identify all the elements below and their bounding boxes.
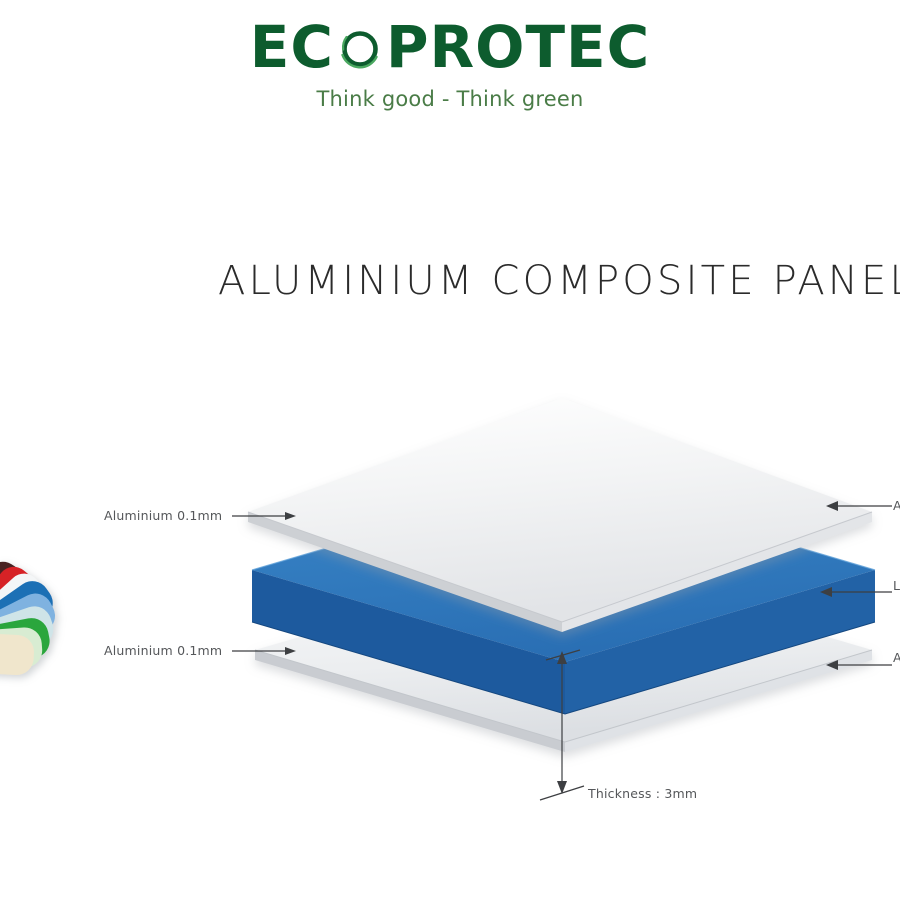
label-right-bottom-clipped: A bbox=[893, 650, 900, 665]
label-top-aluminium: Aluminium 0.1mm bbox=[104, 508, 222, 523]
label-right-core-clipped: L bbox=[893, 578, 900, 593]
label-bottom-aluminium: Aluminium 0.1mm bbox=[104, 643, 222, 658]
exploded-panel-diagram bbox=[0, 0, 900, 900]
panel-product-graphic: EC PROTEC Think good - Think green ALUMI… bbox=[0, 0, 900, 900]
label-thickness: Thickness : 3mm bbox=[588, 786, 697, 801]
label-right-top-clipped: A bbox=[893, 498, 900, 513]
